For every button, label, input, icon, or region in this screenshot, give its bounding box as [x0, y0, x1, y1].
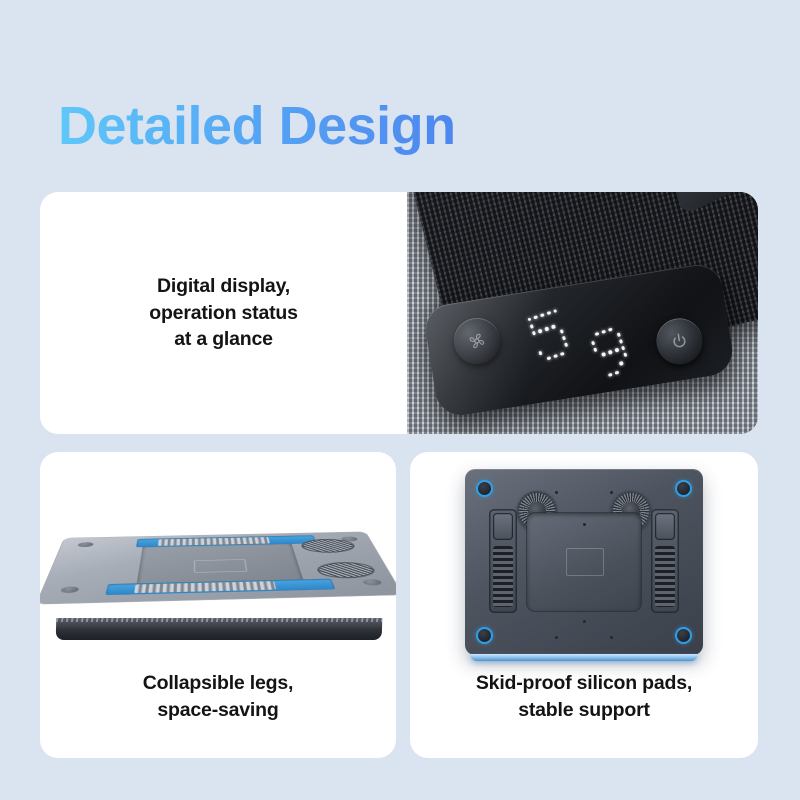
- leg-channel-bottom: [106, 579, 335, 596]
- power-icon: [668, 330, 691, 353]
- silicon-pad-bottom-left: [476, 627, 493, 644]
- screw-dot: [583, 523, 586, 526]
- foot-dot: [77, 542, 94, 547]
- photo-collapsible-legs: [40, 470, 396, 658]
- power-button[interactable]: [653, 315, 706, 368]
- caption-line: Skid-proof silicon pads,: [410, 670, 758, 697]
- screw-dot: [555, 636, 558, 639]
- card-skid-proof-pads: Skid-proof silicon pads, stable support: [410, 452, 758, 758]
- leg-ribs: [655, 546, 674, 606]
- vent-fins: [134, 581, 276, 593]
- caption-collapsible-legs: Collapsible legs, space-saving: [40, 670, 396, 724]
- card-collapsible-legs: Collapsible legs, space-saving: [40, 452, 396, 758]
- caption-line: space-saving: [40, 697, 396, 724]
- screw-dot: [610, 636, 613, 639]
- caption-line: stable support: [410, 697, 758, 724]
- led-digit-second: [586, 323, 634, 381]
- foot-dot: [362, 579, 383, 586]
- screw-dot: [583, 620, 586, 623]
- caption-line: Collapsible legs,: [40, 670, 396, 697]
- underside-center-recess: [136, 542, 305, 588]
- caption-line: Digital display,: [149, 273, 298, 300]
- stand-front-edge: [56, 618, 383, 640]
- collapsible-leg-left: [489, 509, 517, 613]
- photo-digital-display: [407, 192, 758, 434]
- leg-hinge: [655, 513, 675, 540]
- fan-icon: [465, 330, 488, 353]
- caption-line: operation status: [149, 300, 298, 327]
- caption-skid-proof-pads: Skid-proof silicon pads, stable support: [410, 670, 758, 724]
- screw-dot: [610, 491, 613, 494]
- back-panel-center-recess: [527, 513, 641, 611]
- leg-hinge: [493, 513, 513, 540]
- silicon-pad-top-right: [675, 480, 692, 497]
- card-digital-display: Digital display, operation status at a g…: [40, 192, 758, 434]
- fan-grille-icon: [314, 562, 378, 579]
- foot-dot: [59, 586, 79, 593]
- vent-fins: [158, 537, 269, 546]
- leg-ribs: [493, 546, 512, 606]
- page-title: Detailed Design: [58, 97, 456, 156]
- fan-button[interactable]: [451, 315, 504, 368]
- silicon-pad-bottom-right: [675, 627, 692, 644]
- stand-underside-plate: [40, 532, 396, 604]
- photo-skid-proof-pads: [410, 462, 758, 662]
- stand-underside: [40, 532, 396, 604]
- silicon-pad-top-left: [476, 480, 493, 497]
- caption-wrap-digital-display: Digital display, operation status at a g…: [40, 192, 407, 434]
- led-digit-first: [525, 307, 573, 365]
- stand-back-panel: [465, 469, 703, 655]
- caption-digital-display: Digital display, operation status at a g…: [149, 273, 298, 354]
- screw-dot: [555, 491, 558, 494]
- caption-line: at a glance: [149, 326, 298, 353]
- collapsible-leg-right: [651, 509, 679, 613]
